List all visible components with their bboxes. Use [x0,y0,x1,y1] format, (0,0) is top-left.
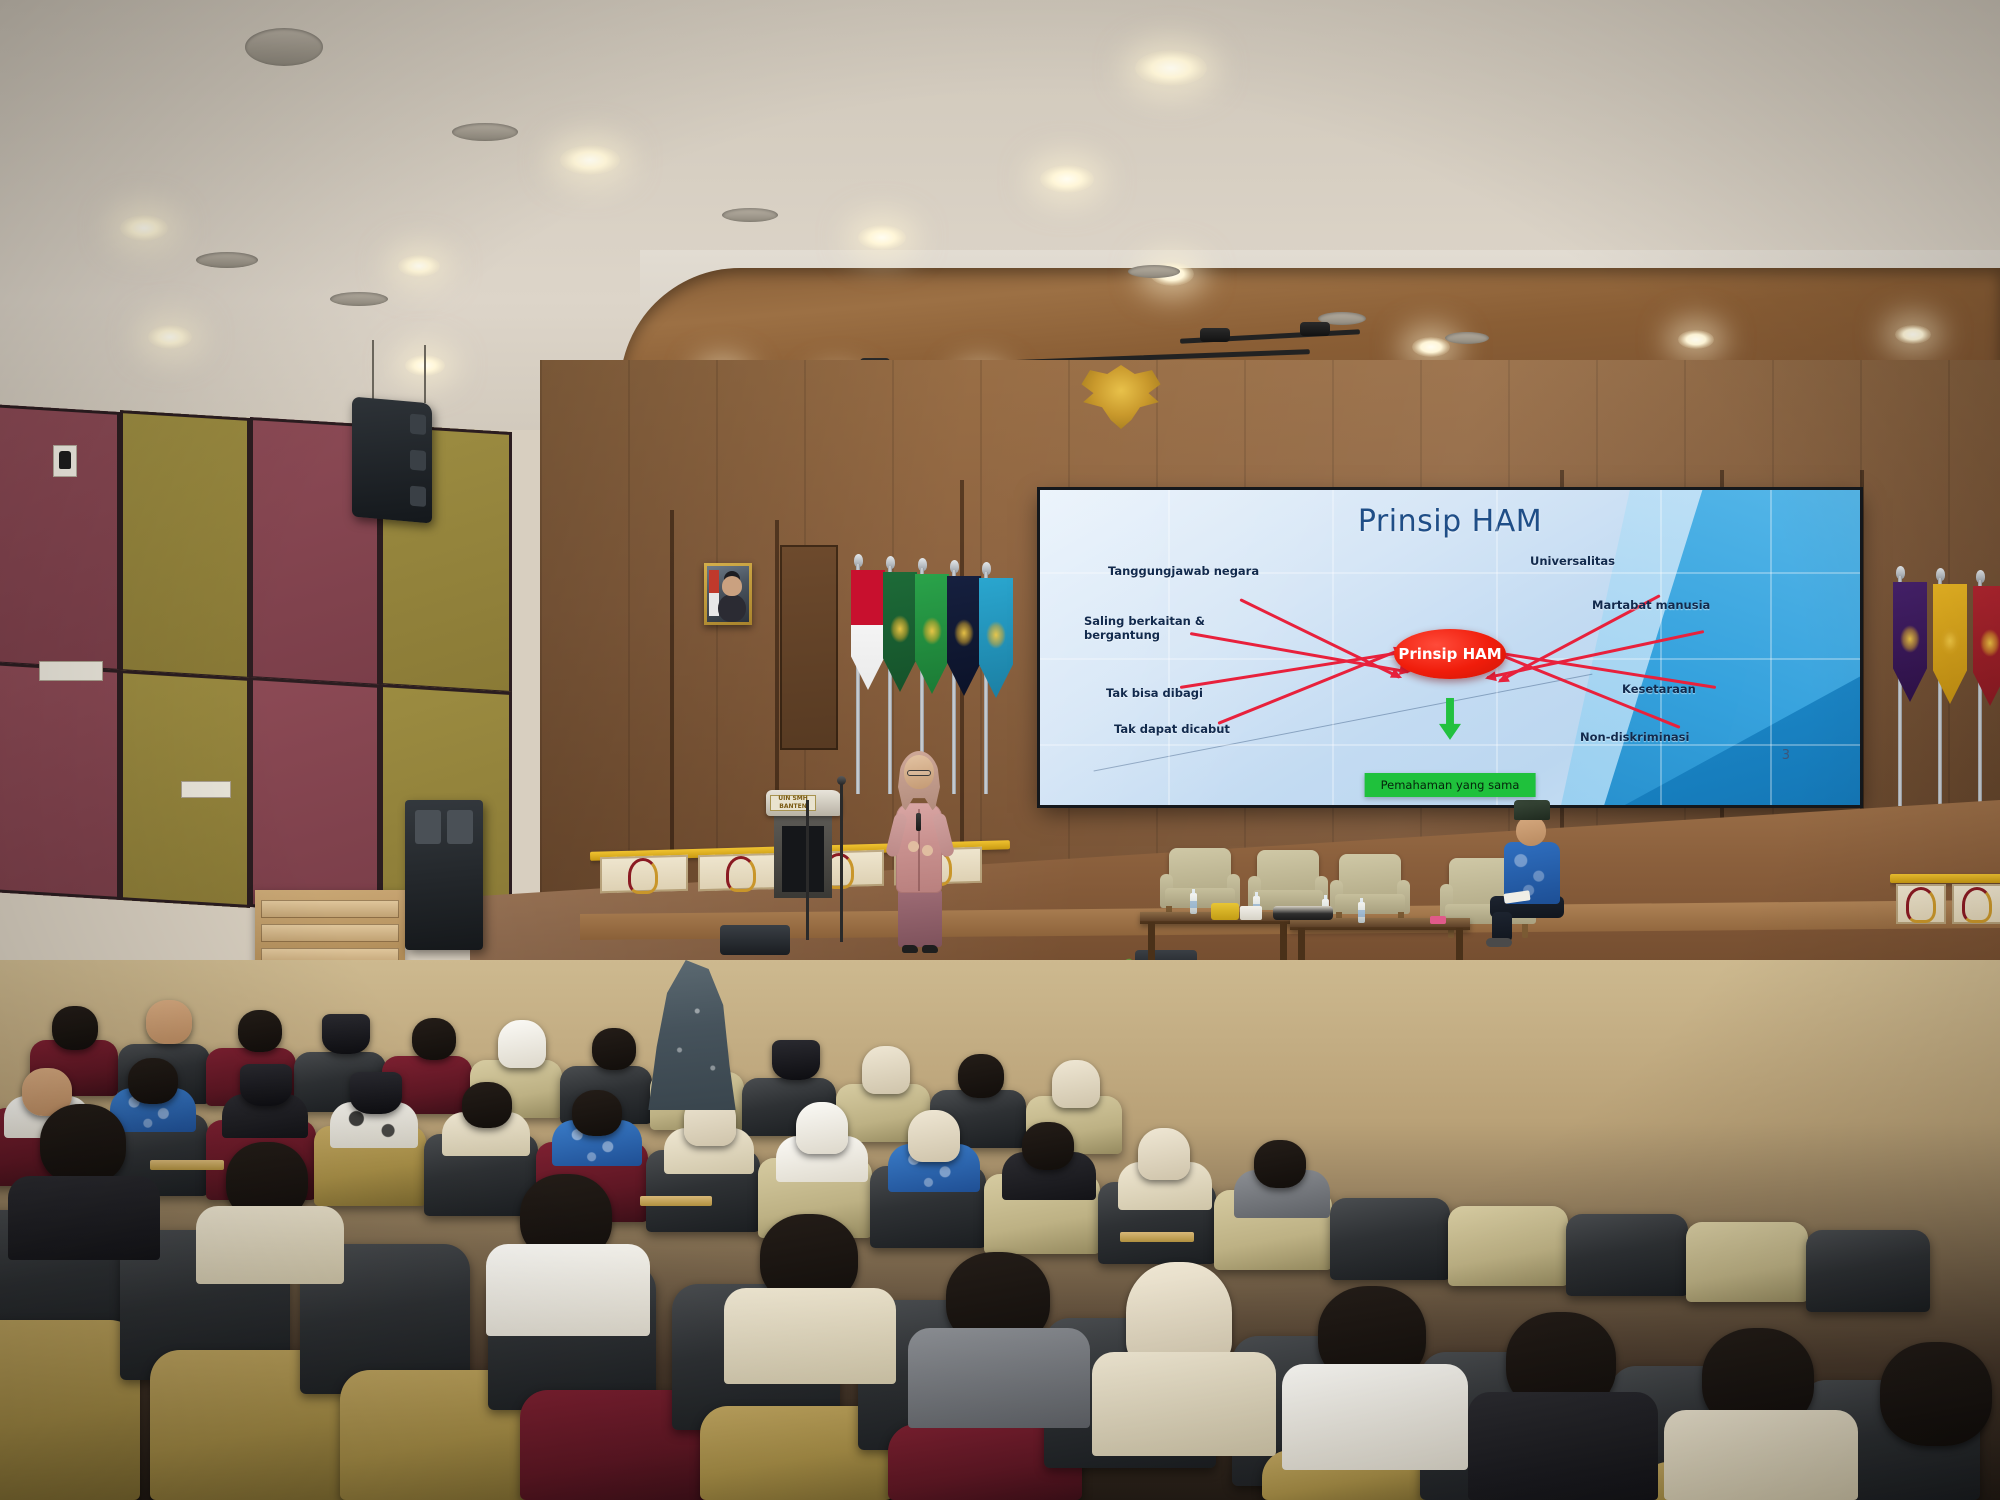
subwoofer-speaker-icon [405,800,483,950]
slide-label-right-1: Martabat manusia [1592,598,1710,612]
podium-nameplate: UIN SMH BANTEN [770,795,816,811]
slide-label-left-3: Tak dapat dicabut [1114,722,1230,736]
rail-ornament-icon [1962,887,1992,923]
ceiling-vent-icon [245,28,323,66]
downlight-icon [560,145,620,175]
downlight-icon [858,225,906,250]
audience-row-near [0,1200,2000,1500]
table-leg [1148,922,1155,962]
speaker-suspension-wire [424,345,426,403]
yellow-pouch [1211,903,1239,920]
pink-folder [1430,916,1446,924]
arrow-ray [1180,650,1410,689]
presentation-slide: Prinsip HAM Prinsip HAM Pemahaman yang s… [1040,490,1860,805]
ceiling-vent-icon [196,252,258,268]
downlight-icon [398,255,440,277]
podium-sign-line1: UIN SMH [778,795,808,802]
led-video-wall: Prinsip HAM Prinsip HAM Pemahaman yang s… [1040,490,1860,805]
downlight-icon [1412,337,1450,357]
flag-group-right [1880,570,2000,820]
microphone-stand [806,800,809,940]
slide-label-right-3: Non-diskriminasi [1580,730,1689,744]
downlight-icon [1040,165,1094,193]
downlight-icon [1678,330,1714,349]
handheld-microphone-icon [916,813,921,831]
slide-title: Prinsip HAM [1040,504,1860,539]
folding-desk-flap[interactable] [150,1160,224,1170]
seated-panelist [1490,800,1600,940]
slide-label-left-0: Tanggungjawab negara [1108,564,1259,578]
stage-rail-right [1890,868,2000,938]
rail-ornament-icon [726,856,756,892]
ceiling-vent-icon [330,292,388,306]
line-array-speaker-icon [352,397,432,524]
presenter-speaker [890,755,950,955]
peci-cap-icon [772,1040,820,1080]
peci-cap-icon [322,1014,370,1054]
down-arrow-icon [1439,698,1461,740]
arrow-ray [1217,647,1404,725]
av-equipment-box [720,925,790,955]
microphone-icon [837,776,846,785]
serving-tray [1273,906,1333,920]
stage-door[interactable] [780,545,838,750]
table-leg [1280,922,1287,962]
wall-outlet-panel[interactable] [182,782,230,797]
ceiling-vent-icon [1445,332,1489,344]
switch-toggle-icon[interactable] [59,451,71,469]
speaker-suspension-wire [372,340,374,402]
water-bottle-icon [1358,902,1365,923]
peci-cap-icon [350,1072,402,1114]
slide-center-node: Prinsip HAM [1394,629,1506,679]
water-bottle-icon [1190,893,1197,914]
slide-label-right-0: Universalitas [1530,554,1615,568]
downlight-icon [148,325,192,349]
auditorium-scene: Prinsip HAM Prinsip HAM Pemahaman yang s… [0,0,2000,1500]
downlight-icon [120,215,168,241]
rail-ornament-icon [1906,887,1936,923]
downlight-icon [1135,50,1207,86]
stage-side-attendee [640,960,750,1120]
glasses-icon [907,770,931,776]
slide-label-left-1: Saling berkaitan & bergantung [1084,614,1214,643]
track-light-icon [1300,322,1330,336]
peci-cap-icon [1514,800,1550,820]
peci-cap-icon [240,1064,292,1106]
downlight-icon [1895,325,1931,344]
ceiling-vent-icon [452,123,518,141]
ceiling-vent-icon [722,208,778,222]
slide-page-number: 3 [1782,748,1790,763]
white-box [1240,906,1262,920]
wall-light-switch[interactable] [54,446,76,476]
slide-label-left-2: Tak bisa dibagi [1106,686,1203,700]
track-light-icon [1200,328,1230,342]
microphone-stand [840,782,843,942]
official-portrait [704,563,752,625]
wall-outlet-panel[interactable] [40,662,102,680]
rail-ornament-icon [628,858,658,894]
slide-label-right-2: Kesetaraan [1622,682,1696,696]
ceiling-vent-icon [1128,265,1180,278]
stage-armchair [1330,854,1410,928]
slide-outcome-box: Pemahaman yang sama [1365,773,1536,797]
podium: UIN SMH BANTEN [770,790,838,896]
podium-sign-line2: BANTEN [779,803,806,810]
